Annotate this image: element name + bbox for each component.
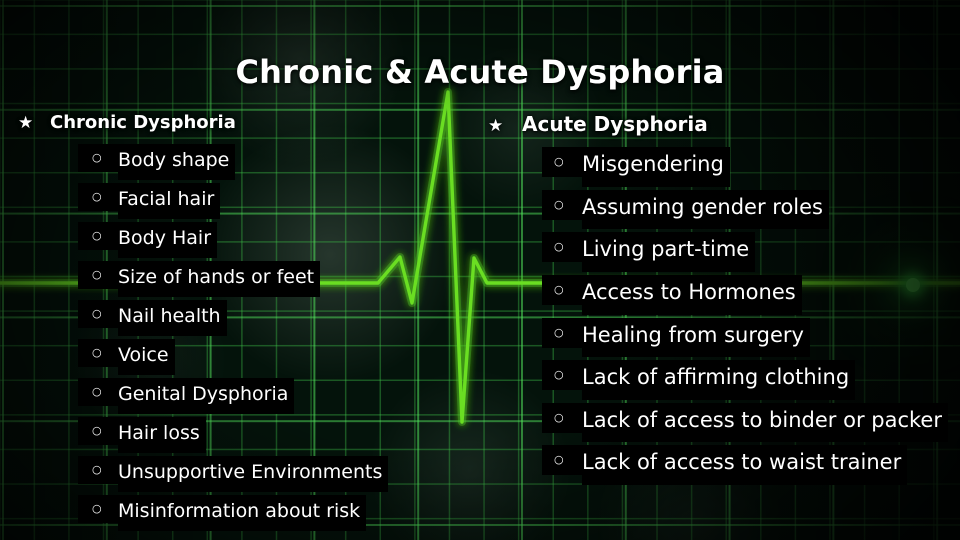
column-heading-label: Chronic Dysphoria [50,112,236,133]
list-item: ○ Body shape [18,144,488,180]
circle-bullet-icon: ○ [78,261,118,289]
list-item: ○ Living part-time [488,232,958,272]
circle-bullet-icon: ○ [542,318,582,348]
circle-bullet-icon: ○ [542,232,582,262]
slide-root: Chronic & Acute Dysphoria ★ Chronic Dysp… [0,0,960,540]
circle-bullet-icon: ○ [542,403,582,433]
list-item: ○ Voice [18,339,488,375]
circle-bullet-icon: ○ [542,275,582,305]
star-icon: ★ [488,118,522,135]
circle-bullet-icon: ○ [78,300,118,328]
column-acute-dysphoria: ★ Acute Dysphoria ○ Misgendering ○ Assum… [488,112,958,488]
list-chronic-dysphoria: ○ Body shape ○ Facial hair ○ Body Hair ○… [18,144,488,531]
list-item: ○ Facial hair [18,183,488,219]
list-item-label: Misgendering [582,147,730,187]
list-item: ○ Lack of access to binder or packer [488,403,958,443]
circle-bullet-icon: ○ [78,495,118,523]
list-item-label: Lack of affirming clothing [582,360,855,400]
list-item-label: Hair loss [118,417,206,453]
list-item-label: Assuming gender roles [582,190,829,230]
list-item-label: Healing from surgery [582,318,810,358]
list-item: ○ Lack of affirming clothing [488,360,958,400]
column-heading-acute: ★ Acute Dysphoria [488,112,958,136]
list-item: ○ Body Hair [18,222,488,258]
circle-bullet-icon: ○ [542,360,582,390]
circle-bullet-icon: ○ [542,147,582,177]
circle-bullet-icon: ○ [78,222,118,250]
list-item: ○ Healing from surgery [488,318,958,358]
list-item-label: Unsupportive Environments [118,456,388,492]
list-item-label: Lack of access to waist trainer [582,445,907,485]
column-heading-label: Acute Dysphoria [522,112,708,136]
list-item: ○ Genital Dysphoria [18,378,488,414]
list-item-label: Lack of access to binder or packer [582,403,948,443]
circle-bullet-icon: ○ [78,417,118,445]
list-item: ○ Access to Hormones [488,275,958,315]
circle-bullet-icon: ○ [78,144,118,172]
list-item: ○ Misinformation about risk [18,495,488,531]
list-item: ○ Lack of access to waist trainer [488,445,958,485]
circle-bullet-icon: ○ [78,456,118,484]
list-item-label: Access to Hormones [582,275,802,315]
slide-content: Chronic & Acute Dysphoria ★ Chronic Dysp… [0,0,960,540]
list-item: ○ Assuming gender roles [488,190,958,230]
list-item: ○ Nail health [18,300,488,336]
circle-bullet-icon: ○ [542,445,582,475]
circle-bullet-icon: ○ [78,339,118,367]
list-item-label: Living part-time [582,232,755,272]
column-chronic-dysphoria: ★ Chronic Dysphoria ○ Body shape ○ Facia… [18,112,488,534]
list-item-label: Nail health [118,300,227,336]
page-title: Chronic & Acute Dysphoria [0,53,960,91]
circle-bullet-icon: ○ [78,378,118,406]
circle-bullet-icon: ○ [78,183,118,211]
list-item-label: Size of hands or feet [118,261,320,297]
list-item-label: Misinformation about risk [118,495,366,531]
list-item-label: Body Hair [118,222,217,258]
list-item: ○ Unsupportive Environments [18,456,488,492]
list-item: ○ Hair loss [18,417,488,453]
circle-bullet-icon: ○ [542,190,582,220]
star-icon: ★ [18,115,50,132]
list-item: ○ Size of hands or feet [18,261,488,297]
column-heading-chronic: ★ Chronic Dysphoria [18,112,488,133]
list-item-label: Genital Dysphoria [118,378,294,414]
list-acute-dysphoria: ○ Misgendering ○ Assuming gender roles ○… [488,147,958,485]
list-item-label: Voice [118,339,175,375]
list-item-label: Body shape [118,144,235,180]
list-item-label: Facial hair [118,183,220,219]
list-item: ○ Misgendering [488,147,958,187]
